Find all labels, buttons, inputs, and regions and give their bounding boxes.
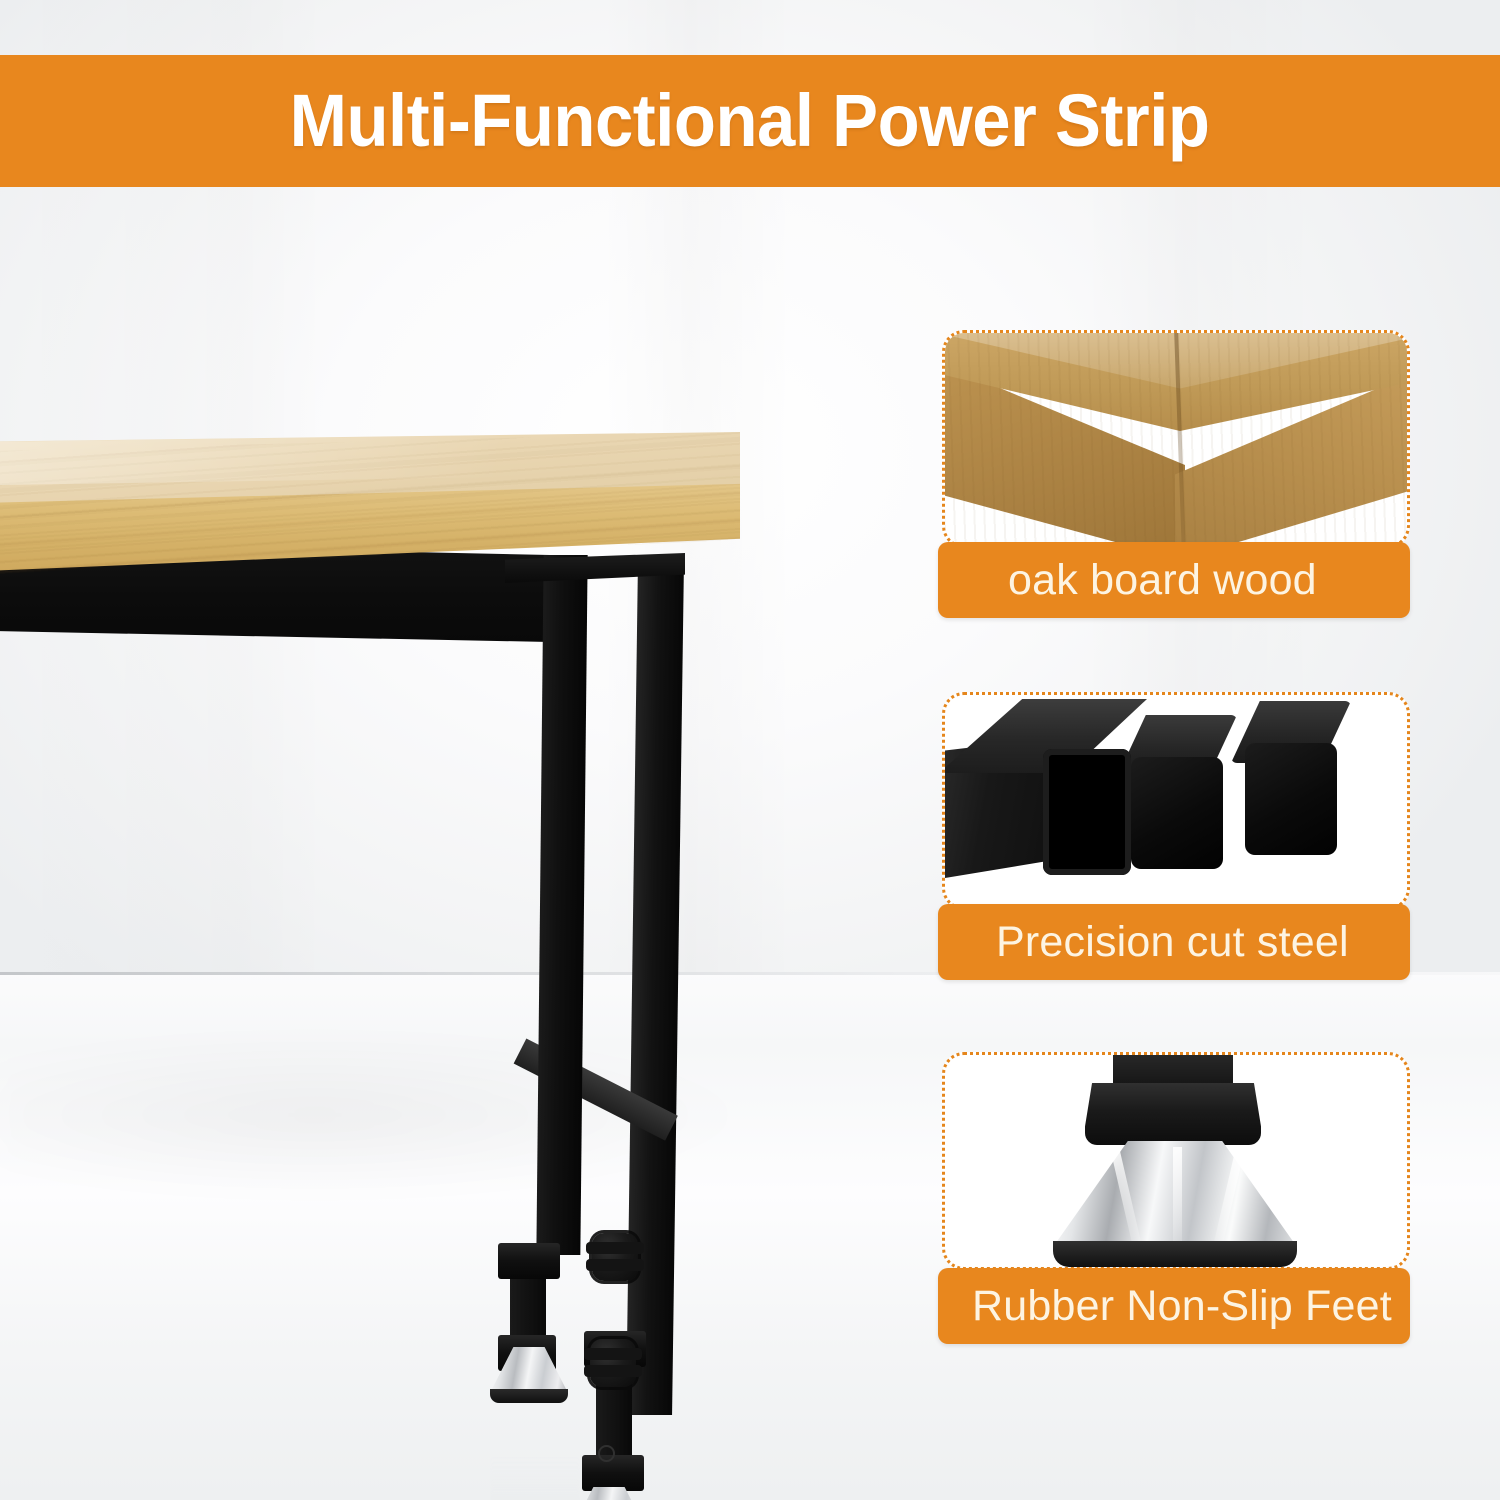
feature-label-bar: Rubber Non-Slip Feet [938,1268,1410,1344]
foot-mount-stem [1113,1052,1233,1087]
leg-logo-icon [598,1445,615,1462]
page-title: Multi-Functional Power Strip [290,84,1210,158]
leg-insert-front [510,1273,546,1343]
leveling-foot-front [490,1347,568,1405]
oak-board-corner-image [942,330,1410,548]
leg-collar-lower-rear [582,1455,644,1491]
workbench-leg-front [536,555,587,1255]
feature-card-list: oak board wood Pr [938,0,1418,1500]
foot-rubber-pad [490,1389,568,1403]
tube-end-face [1131,757,1223,869]
feature-card-rubber-non-slip-feet[interactable]: Rubber Non-Slip Feet [938,1052,1410,1344]
leg-reflection-front [490,1405,580,1500]
feature-label-text: Precision cut steel [938,918,1349,967]
tube-end-face [1245,743,1337,855]
feature-card-precision-cut-steel[interactable]: Precision cut steel [938,692,1410,980]
feature-label-text: oak board wood [938,556,1317,605]
infographic-canvas: Multi-Functional Power Strip [0,0,1500,1500]
foot-cone [490,1347,568,1393]
feature-card-oak-board-wood[interactable]: oak board wood [938,330,1410,618]
leg-collar-upper-front [498,1243,560,1279]
feature-label-bar: Precision cut steel [938,904,1410,980]
product-photo-workbench [0,187,920,1500]
height-adjust-knob-lower [590,1339,636,1387]
foot-rib [1173,1147,1182,1243]
foot-mount-block [1085,1083,1261,1145]
leveling-foot-rear [570,1487,648,1500]
steel-tube-1 [942,703,1135,879]
workbench-leg-rear [626,563,684,1415]
foot-rubber-pad [1053,1241,1297,1267]
header-banner: Multi-Functional Power Strip [0,55,1500,187]
foot-cone [570,1487,648,1500]
steel-tubes-image [942,692,1410,910]
leveling-foot-image [942,1052,1410,1270]
tube-hollow-mouth [1043,749,1131,875]
feature-label-bar: oak board wood [938,542,1410,618]
height-adjust-knob-upper [592,1233,638,1281]
feature-label-text: Rubber Non-Slip Feet [938,1282,1392,1331]
